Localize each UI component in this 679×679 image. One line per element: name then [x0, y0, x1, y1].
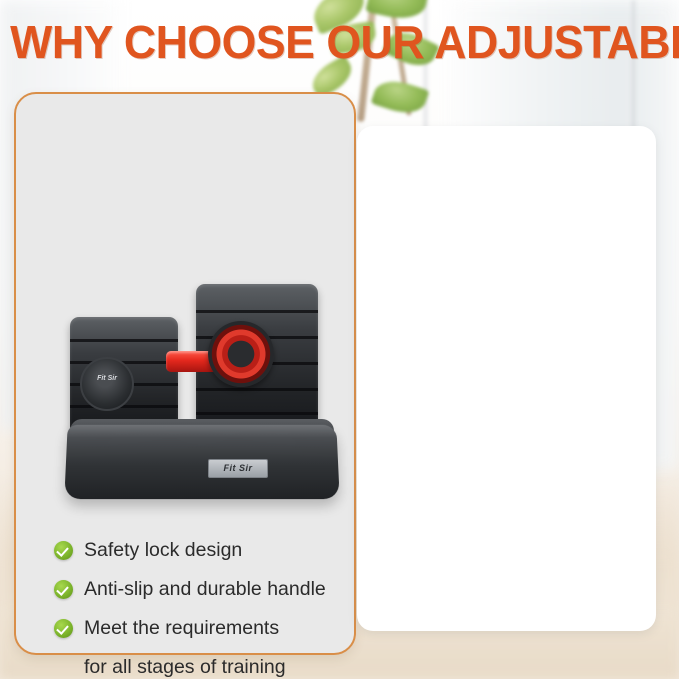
list-item: Anti-slip and durable handle — [54, 577, 354, 602]
page-title: WHY CHOOSE OUR ADJUSTABLE DUMBBELLS — [10, 18, 669, 66]
list-item-label: Anti-slip and durable handle — [84, 577, 326, 602]
brand-plate: Fit Sir — [208, 459, 268, 478]
list-item-label: Safety lock design — [84, 538, 242, 563]
weight-selector-dial — [208, 321, 274, 387]
dumbbell-tray — [64, 425, 339, 499]
panel-pros: Fit Sir Fit Sir Safety lock design Anti-… — [14, 92, 356, 655]
list-item-continuation: for all stages of training — [84, 655, 354, 679]
pros-list: Safety lock design Anti-slip and durable… — [54, 538, 354, 679]
panel-cons: Makes it easy to slip off Single weight … — [357, 126, 656, 631]
list-item: Safety lock design — [54, 538, 354, 563]
list-item: Meet the requirements — [54, 616, 354, 641]
check-circle-icon — [54, 619, 73, 638]
endcap-brand-label: Fit Sir — [82, 375, 132, 382]
check-circle-icon — [54, 541, 73, 560]
product-image-adjustable-dumbbell: Fit Sir Fit Sir — [48, 279, 348, 524]
check-circle-icon — [54, 580, 73, 599]
infographic-page: WHY CHOOSE OUR ADJUSTABLE DUMBBELLS Fit … — [0, 0, 679, 679]
list-item-label: Meet the requirements — [84, 616, 279, 641]
dumbbell-endcap: Fit Sir — [80, 357, 134, 411]
